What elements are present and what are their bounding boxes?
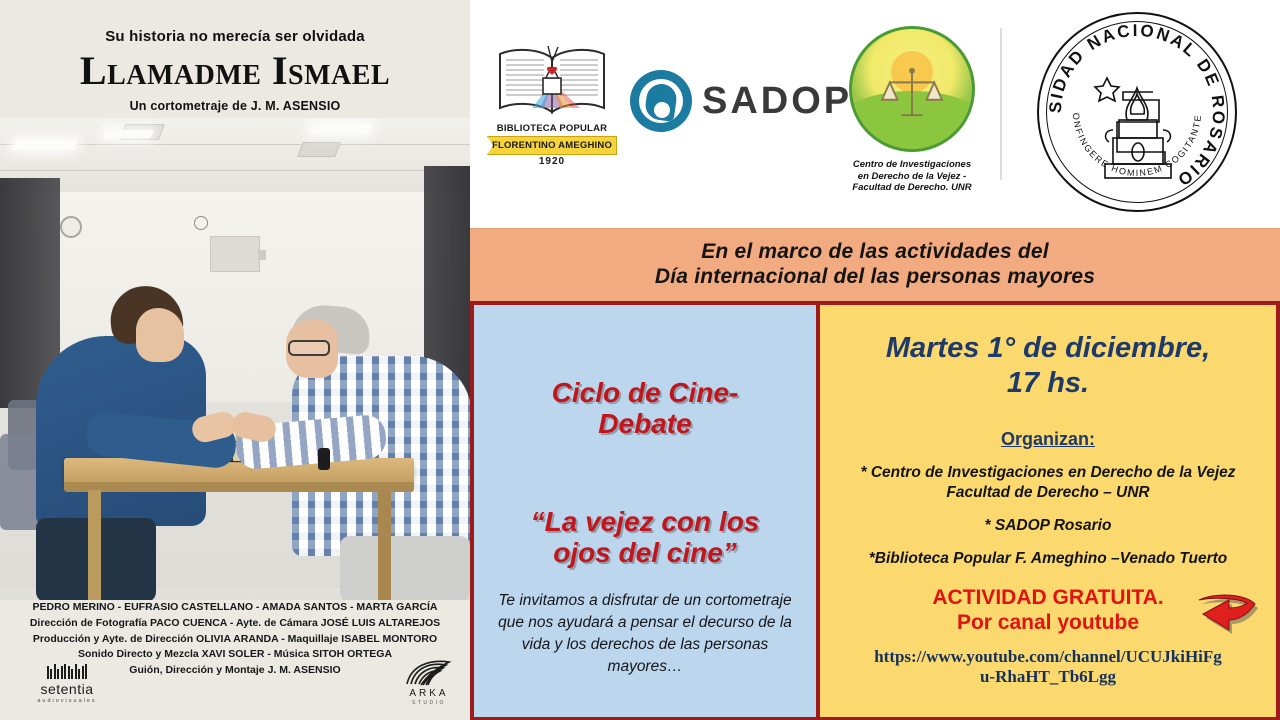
setentia-logo: setentia audiovisuales: [22, 664, 112, 704]
event-date-line2: 17 hs.: [832, 366, 1264, 401]
banner-line-1: En el marco de las actividades del: [701, 240, 1049, 265]
ceiling-light: [11, 140, 78, 150]
ceiling: [0, 118, 470, 196]
setentia-name: setentia: [22, 681, 112, 697]
cycle-title-line2: ojos del cine”: [531, 537, 760, 568]
organizers-heading: Organizan:: [832, 429, 1264, 450]
table-edge: [64, 482, 414, 492]
poster-subtitle: Un cortometraje de J. M. ASENSIO: [0, 99, 470, 113]
content-panels: Ciclo de Cine- Debate “La vejez con los …: [470, 301, 1280, 720]
ceiling-light: [310, 124, 372, 133]
organizer-line-1: * Centro de Investigaciones en Derecho d…: [832, 463, 1264, 483]
cidv-caption-line1: Centro de Investigaciones: [822, 159, 1002, 171]
organizer-line-2: Facultad de Derecho – UNR: [832, 483, 1264, 503]
svg-text:UNIVERSIDAD NACIONAL DE ROSARI: UNIVERSIDAD NACIONAL DE ROSARIO: [1039, 14, 1228, 191]
biblioteca-popular-logo: BIBLIOTECA POPULAR FLORENTINO AMEGHINO 1…: [482, 38, 622, 167]
arka-fan-icon: [392, 658, 466, 686]
youtube-url-line1: https://www.youtube.com/channel/UCUJkiHi…: [832, 647, 1264, 667]
young-man-face: [136, 308, 184, 362]
wristwatch: [318, 448, 330, 470]
cidv-logo: Centro de Investigaciones en Derecho de …: [822, 26, 1002, 194]
barcode-icon: [22, 664, 112, 679]
credit-line: PEDRO MERINO - EUFRASIO CASTELLANO - AMA…: [0, 600, 470, 616]
event-flyer: BIBLIOTECA POPULAR FLORENTINO AMEGHINO 1…: [470, 0, 1280, 720]
biblioteca-year: 1920: [482, 156, 622, 167]
poster-photograph: [0, 118, 470, 600]
wall-poster: [210, 236, 260, 272]
event-date-line1: Martes 1° de diciembre,: [832, 331, 1264, 366]
arka-name: ARKA: [392, 688, 466, 699]
organizer-item: *Biblioteca Popular F. Ameghino –Venado …: [832, 549, 1264, 569]
ceiling-light: [102, 130, 154, 138]
arka-studio-logo: ARKA STUDIO: [392, 658, 466, 706]
svg-text:CONFINGERE HOMINEM COGITANTEM: CONFINGERE HOMINEM COGITANTEM: [1039, 14, 1203, 178]
cycle-heading-line1: Ciclo de Cine-: [552, 377, 739, 408]
poster-title-block: Su historia no merecía ser olvidada Llam…: [0, 0, 470, 120]
biblioteca-ribbon: FLORENTINO AMEGHINO: [487, 136, 617, 155]
cine-debate-panel: Ciclo de Cine- Debate “La vejez con los …: [470, 301, 818, 720]
table-leg: [378, 490, 391, 600]
logo-bar: BIBLIOTECA POPULAR FLORENTINO AMEGHINO 1…: [470, 0, 1280, 228]
sun-and-scales-icon: [849, 26, 975, 152]
ceiling-vent: [297, 142, 340, 157]
wall-note: [258, 250, 266, 260]
cycle-title-line1: “La vejez con los: [531, 506, 760, 537]
youtube-url-line2: u-RhaHT_Tb6Lgg: [832, 667, 1264, 687]
wall-sign: [194, 216, 208, 230]
poster-title: Llamadme Ismael: [0, 51, 470, 91]
setentia-tagline: audiovisuales: [22, 698, 112, 704]
invitation-text: Te invitamos a disfrutar de un cortometr…: [495, 590, 795, 678]
sadop-dot: [654, 102, 670, 118]
arka-tagline: STUDIO: [392, 700, 466, 706]
unr-seal-logo: UNIVERSIDAD NACIONAL DE ROSARIO CONFINGE…: [1022, 12, 1252, 217]
cidv-caption-line3: Facultad de Derecho. UNR: [822, 182, 1002, 194]
unr-motto-text: CONFINGERE HOMINEM COGITANTEM: [1039, 14, 1203, 178]
credit-line: Dirección de Fotografía PACO CUENCA - Ay…: [0, 616, 470, 632]
organizer-item: * Centro de Investigaciones en Derecho d…: [832, 463, 1264, 503]
biblioteca-name: BIBLIOTECA POPULAR: [482, 123, 622, 134]
old-man-legs: [340, 536, 470, 600]
youtube-channel-url[interactable]: https://www.youtube.com/channel/UCUJkiHi…: [832, 647, 1264, 687]
cycle-heading: Ciclo de Cine- Debate: [552, 377, 739, 440]
event-details-panel: Martes 1° de diciembre, 17 hs. Organizan…: [818, 301, 1280, 720]
wall-clock: [60, 216, 82, 238]
film-poster: Su historia no merecía ser olvidada Llam…: [0, 0, 470, 720]
poster-tagline: Su historia no merecía ser olvidada: [0, 28, 470, 45]
event-date: Martes 1° de diciembre, 17 hs.: [832, 331, 1264, 401]
cycle-heading-line2: Debate: [552, 408, 739, 439]
table-leg: [88, 490, 101, 600]
cidv-caption: Centro de Investigaciones en Derecho de …: [822, 159, 1002, 194]
curved-arrow-icon: [1190, 591, 1262, 643]
flyer-canvas: Su historia no merecía ser olvidada Llam…: [0, 0, 1280, 720]
banner-line-2: Día internacional del las personas mayor…: [655, 265, 1095, 290]
organizer-item: * SADOP Rosario: [832, 516, 1264, 536]
cidv-caption-line2: en Derecho de la Vejez -: [822, 171, 1002, 183]
credit-line: Producción y Ayte. de Dirección OLIVIA A…: [0, 632, 470, 648]
event-context-banner: En el marco de las actividades del Día i…: [470, 228, 1280, 301]
sadop-logo: SADOP: [630, 70, 852, 132]
eyeglasses: [288, 340, 330, 356]
unr-seal-icon: UNIVERSIDAD NACIONAL DE ROSARIO CONFINGE…: [1037, 12, 1237, 212]
sadop-mark-icon: [630, 70, 692, 132]
open-book-icon: [488, 38, 616, 122]
cycle-title: “La vejez con los ojos del cine”: [531, 506, 760, 569]
unr-ring-text: UNIVERSIDAD NACIONAL DE ROSARIO: [1039, 14, 1228, 191]
